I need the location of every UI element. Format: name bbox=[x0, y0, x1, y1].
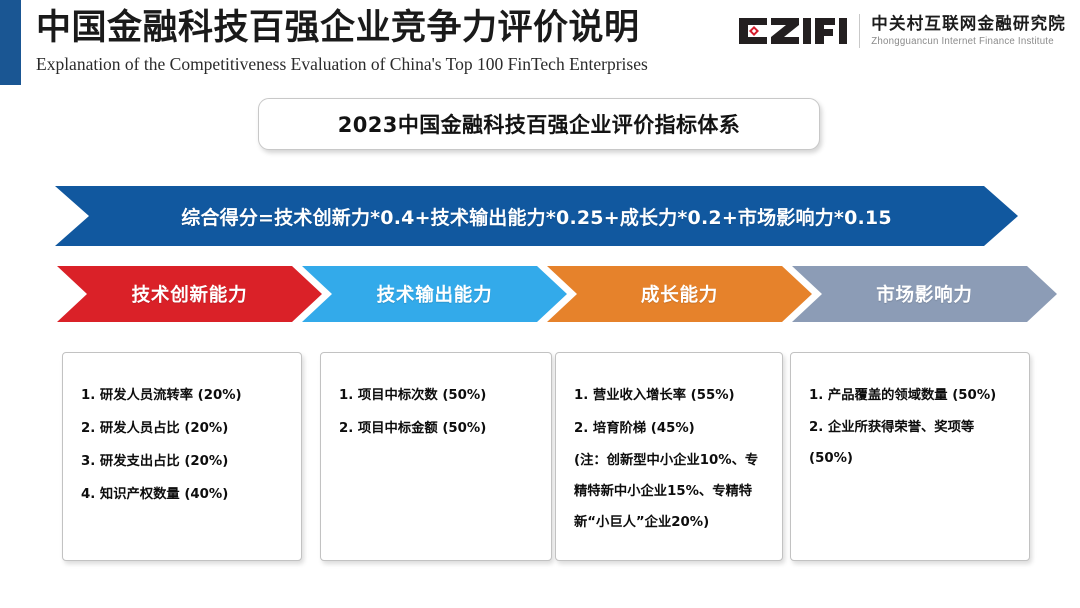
page-title-cn: 中国金融科技百强企业竞争力评价说明 bbox=[36, 6, 648, 50]
czifi-wordmark-icon bbox=[737, 16, 849, 46]
dimension-chevron-growth: 成长能力 bbox=[547, 266, 812, 322]
score-formula-text: 综合得分=技术创新力*0.4+技术输出能力*0.25+成长力*0.2+市场影响力… bbox=[181, 203, 892, 230]
dimension-label: 技术输出能力 bbox=[377, 281, 493, 307]
indicator-box-tech-innovation: 1. 研发人员流转率 (20%) 2. 研发人员占比 (20%) 3. 研发支出… bbox=[62, 352, 302, 561]
indicator-item: 1. 产品覆盖的领域数量 (50%) bbox=[809, 379, 1015, 412]
header-accent-bar bbox=[0, 0, 21, 85]
page-title-en: Explanation of the Competitiveness Evalu… bbox=[36, 51, 648, 77]
slide-root: 中国金融科技百强企业竞争力评价说明 Explanation of the Com… bbox=[0, 0, 1080, 608]
indicator-note: (注：创新型中小企业10%、专精特新中小企业15%、专精特新“小巨人”企业20%… bbox=[574, 445, 768, 538]
dimension-label: 技术创新能力 bbox=[132, 281, 248, 307]
institute-logo: 中关村互联网金融研究院 Zhongguancun Internet Financ… bbox=[737, 10, 1066, 52]
logo-divider bbox=[859, 14, 860, 48]
indicator-item: 2. 研发人员占比 (20%) bbox=[81, 412, 287, 445]
indicator-item: 2. 企业所获得荣誉、奖项等 (50%) bbox=[809, 412, 1015, 474]
dimension-label: 市场影响力 bbox=[876, 281, 973, 307]
indicator-item: 1. 研发人员流转率 (20%) bbox=[81, 379, 287, 412]
indicator-box-growth: 1. 营业收入增长率 (55%) 2. 培育阶梯 (45%) (注：创新型中小企… bbox=[555, 352, 783, 561]
dimension-label: 成长能力 bbox=[641, 281, 718, 307]
framework-title-box: 2023中国金融科技百强企业评价指标体系 bbox=[258, 98, 820, 150]
indicator-item: 1. 营业收入增长率 (55%) bbox=[574, 379, 768, 412]
logo-name-en: Zhongguancun Internet Finance Institute bbox=[871, 35, 1066, 49]
indicator-item: 1. 项目中标次数 (50%) bbox=[339, 379, 537, 412]
dimension-chevron-tech-innovation: 技术创新能力 bbox=[57, 266, 322, 322]
indicator-box-market-influence: 1. 产品覆盖的领域数量 (50%) 2. 企业所获得荣誉、奖项等 (50%) bbox=[790, 352, 1030, 561]
dimension-chevron-market-influence: 市场影响力 bbox=[792, 266, 1057, 322]
logo-name-cn: 中关村互联网金融研究院 bbox=[871, 14, 1066, 34]
logo-text-group: 中关村互联网金融研究院 Zhongguancun Internet Financ… bbox=[871, 14, 1066, 49]
indicator-item: 2. 项目中标金额 (50%) bbox=[339, 412, 537, 445]
score-formula-banner: 综合得分=技术创新力*0.4+技术输出能力*0.25+成长力*0.2+市场影响力… bbox=[55, 186, 1018, 246]
indicator-item: 2. 培育阶梯 (45%) bbox=[574, 412, 768, 445]
header-title-group: 中国金融科技百强企业竞争力评价说明 Explanation of the Com… bbox=[36, 6, 648, 77]
framework-title-text: 2023中国金融科技百强企业评价指标体系 bbox=[338, 109, 740, 139]
indicator-box-tech-output: 1. 项目中标次数 (50%) 2. 项目中标金额 (50%) bbox=[320, 352, 552, 561]
indicator-box-row: 1. 研发人员流转率 (20%) 2. 研发人员占比 (20%) 3. 研发支出… bbox=[0, 352, 1080, 564]
indicator-item: 4. 知识产权数量 (40%) bbox=[81, 478, 287, 511]
slide-header: 中国金融科技百强企业竞争力评价说明 Explanation of the Com… bbox=[0, 0, 1080, 88]
indicator-item: 3. 研发支出占比 (20%) bbox=[81, 445, 287, 478]
dimension-chevron-tech-output: 技术输出能力 bbox=[302, 266, 567, 322]
dimension-chevron-row: 技术创新能力 技术输出能力 成长能力 市场影响力 bbox=[0, 266, 1080, 322]
